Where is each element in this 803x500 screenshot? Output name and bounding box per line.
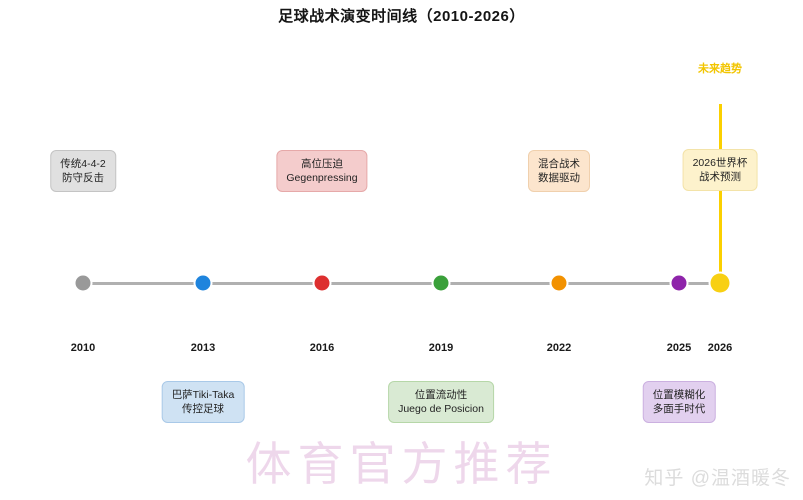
- event-label-line2: 传控足球: [172, 402, 235, 416]
- event-label-line2: Gegenpressing: [286, 171, 357, 185]
- event-label-2016[interactable]: 高位压迫Gegenpressing: [276, 150, 367, 192]
- event-label-line2: 战术预测: [693, 170, 748, 184]
- event-label-2022[interactable]: 混合战术数据驱动: [528, 150, 590, 192]
- future-trend-annotation: 未来趋势: [661, 60, 779, 76]
- timeline-dot-2022[interactable]: [552, 276, 567, 291]
- year-label-2025: 2025: [667, 342, 691, 354]
- event-label-line2: Juego de Posicion: [398, 402, 484, 416]
- year-label-2026: 2026: [708, 342, 732, 354]
- future-marker-line: [719, 104, 722, 284]
- event-label-2013[interactable]: 巴萨Tiki-Taka传控足球: [162, 381, 245, 423]
- year-label-2022: 2022: [547, 342, 571, 354]
- timeline-dot-2016[interactable]: [315, 276, 330, 291]
- timeline-axis: [83, 282, 720, 285]
- event-label-line1: 传统4-4-2: [60, 157, 106, 171]
- event-label-2025[interactable]: 位置模糊化多面手时代: [643, 381, 716, 423]
- year-label-2016: 2016: [310, 342, 334, 354]
- event-label-2026[interactable]: 2026世界杯战术预测: [683, 149, 758, 191]
- event-label-line1: 混合战术: [538, 157, 580, 171]
- timeline-dot-2013[interactable]: [196, 276, 211, 291]
- watermark-zhihu: 知乎 @温酒暖冬: [644, 463, 791, 490]
- timeline-dot-2019[interactable]: [434, 276, 449, 291]
- timeline-dot-2026[interactable]: [711, 274, 730, 293]
- year-label-2013: 2013: [191, 342, 215, 354]
- page-title: 足球战术演变时间线（2010-2026）: [0, 5, 803, 26]
- timeline-dot-2010[interactable]: [76, 276, 91, 291]
- event-label-line2: 数据驱动: [538, 171, 580, 185]
- event-label-line1: 巴萨Tiki-Taka: [172, 388, 235, 402]
- event-label-2019[interactable]: 位置流动性Juego de Posicion: [388, 381, 494, 423]
- event-label-line1: 高位压迫: [286, 157, 357, 171]
- timeline-chart: 足球战术演变时间线（2010-2026） 未来趋势 20102013201620…: [0, 0, 803, 500]
- event-label-line1: 位置流动性: [398, 388, 484, 402]
- watermark-sports: 体育官方推荐: [0, 428, 803, 494]
- event-label-2010[interactable]: 传统4-4-2防守反击: [50, 150, 116, 192]
- year-label-2019: 2019: [429, 342, 453, 354]
- event-label-line1: 位置模糊化: [653, 388, 706, 402]
- event-label-line2: 防守反击: [60, 171, 106, 185]
- event-label-line1: 2026世界杯: [693, 156, 748, 170]
- timeline-dot-2025[interactable]: [672, 276, 687, 291]
- year-label-2010: 2010: [71, 342, 95, 354]
- event-label-line2: 多面手时代: [653, 402, 706, 416]
